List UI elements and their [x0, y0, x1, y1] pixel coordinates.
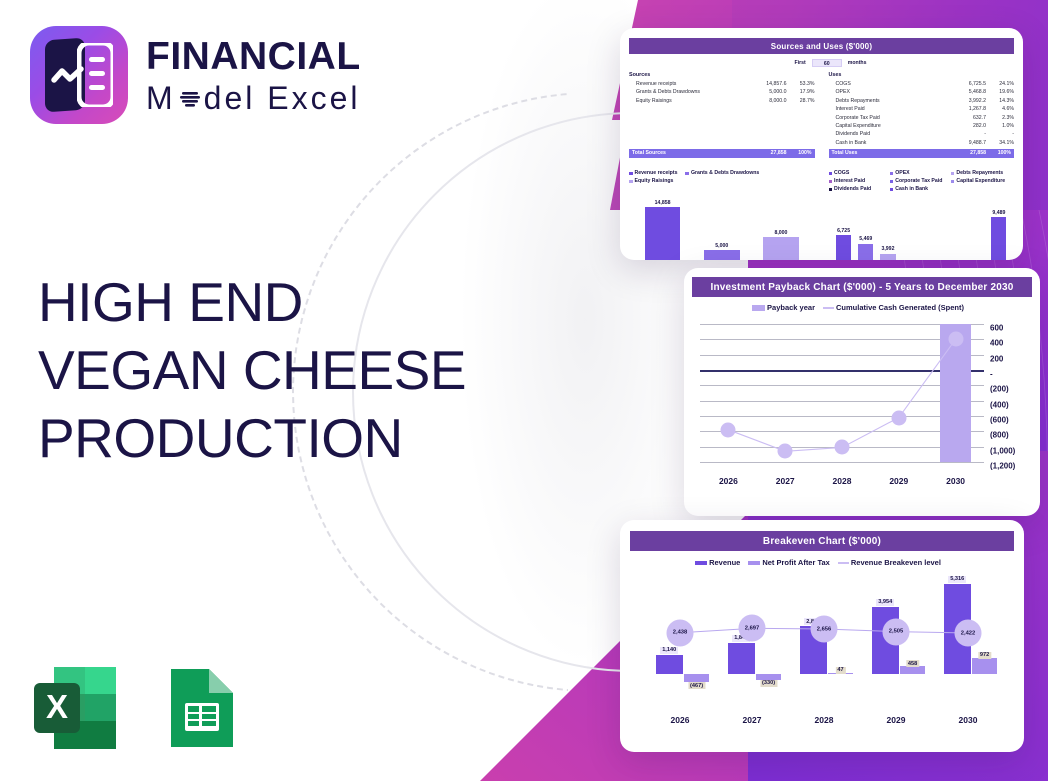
row-value: 282.0 [946, 122, 986, 130]
row-label: Cash in Bank [829, 139, 947, 147]
total-sources-row: Total Sources 27,858 100% [629, 149, 815, 158]
payback-x-tick: 2030 [927, 476, 984, 486]
payback-x-tick: 2028 [814, 476, 871, 486]
uses-table-row: Cash in Bank9,488.734.1% [829, 139, 1015, 147]
payback-y-tick: 600 [990, 324, 1003, 333]
breakeven-x-tick: 2029 [860, 715, 932, 725]
breakeven-data-point: 2,422 [955, 620, 982, 647]
sources-table-row: Equity Raisings8,000.028.7% [629, 97, 815, 105]
legend-label: Revenue receipts [635, 170, 678, 176]
payback-title: Investment Payback Chart ($'000) - 5 Yea… [692, 277, 1032, 297]
row-percent: 4.6% [986, 105, 1014, 113]
period-suffix-label: months [848, 60, 867, 66]
row-value: 5,000.0 [747, 88, 787, 96]
google-sheets-icon [157, 663, 247, 753]
brand-name-line2-suffix: del Excel [204, 82, 361, 114]
breakeven-data-point: 2,656 [811, 616, 838, 643]
payback-y-tick: - [990, 369, 993, 378]
legend-label: COGS [834, 170, 849, 176]
uses-bar: 282 [943, 194, 965, 260]
slide-canvas: FINANCIAL M del Excel HIGH END VEGAN CHE… [0, 0, 1048, 781]
financial-model-excel-logo-icon [30, 26, 128, 124]
breakeven-x-tick: 2030 [932, 715, 1004, 725]
row-percent: 28.7% [787, 97, 815, 105]
row-label: Capital Expenditure [829, 122, 947, 130]
uses-table-row: Corporate Tax Paid632.72.3% [829, 114, 1015, 122]
legend-label: Cash in Bank [895, 186, 928, 192]
sources-and-uses-card[interactable]: Sources and Uses ($'000) First 60 months… [620, 28, 1023, 260]
bar-value-label: 9,489 [992, 210, 1005, 216]
uses-table-row: Debts Repayments3,992.214.3% [829, 97, 1015, 105]
breakeven-title: Breakeven Chart ($'000) [630, 531, 1014, 551]
bar [645, 207, 681, 260]
row-label: Interest Paid [829, 105, 947, 113]
brand-name-line2-prefix: M [146, 82, 176, 114]
payback-y-tick: (200) [990, 385, 1009, 394]
microsoft-excel-icon: X [30, 663, 120, 753]
row-value: 5,468.8 [946, 88, 986, 96]
total-uses-row: Total Uses 27,858 100% [829, 149, 1015, 158]
payback-data-point [948, 332, 963, 347]
row-label: Corporate Tax Paid [829, 114, 947, 122]
payback-y-tick: (400) [990, 400, 1009, 409]
sources-legend-item: Revenue receipts [629, 170, 677, 176]
total-sources-value: 27,858 [747, 149, 787, 158]
sources-bar: 14,858 [633, 186, 692, 260]
bar [991, 217, 1006, 260]
uses-chart-legend: COGSOPEXDebts RepaymentsInterest PaidCor… [829, 170, 1015, 194]
payback-y-tick: 400 [990, 339, 1003, 348]
legend-swatch [695, 561, 707, 565]
stacked-bars-o-icon [177, 85, 203, 111]
row-percent: - [986, 130, 1014, 138]
breakeven-legend-item: Revenue [695, 558, 740, 567]
legend-label: Revenue [709, 558, 740, 567]
uses-table-row: COGS6,725.524.1% [829, 80, 1015, 88]
bar-value-label: 14,858 [655, 200, 671, 206]
headline-line-2: VEGAN CHEESE [38, 336, 518, 404]
svg-text:X: X [46, 688, 68, 725]
bar [880, 254, 895, 260]
sources-chart: Revenue receiptsGrants & Debts Drawdowns… [629, 163, 815, 260]
brand-wordmark: FINANCIAL M del Excel [146, 37, 361, 114]
payback-legend-item: Cumulative Cash Generated (Spent) [823, 303, 964, 312]
sources-bar: 5,000 [692, 186, 751, 260]
row-percent: 1.0% [986, 122, 1014, 130]
uses-column: Uses COGS6,725.524.1%OPEX5,468.819.6%Deb… [829, 72, 1015, 158]
legend-label: Revenue Breakeven level [851, 558, 941, 567]
breakeven-data-point: 2,438 [667, 619, 694, 646]
row-value: 1,267.8 [946, 105, 986, 113]
row-percent: 19.6% [986, 88, 1014, 96]
uses-legend-item: COGS [829, 170, 890, 176]
breakeven-chart: 1,140(467)1,848(330)2,814473,9544585,316… [630, 577, 1014, 727]
logo-list-panel-icon [77, 43, 113, 107]
row-label: Debts Repayments [829, 97, 947, 105]
payback-y-tick: (1,000) [990, 446, 1015, 455]
legend-label: Payback year [767, 303, 815, 312]
breakeven-x-tick: 2026 [644, 715, 716, 725]
legend-swatch [829, 180, 833, 184]
row-label: Revenue receipts [629, 80, 747, 88]
sources-table-row: Grants & Debts Drawdowns5,000.017.9% [629, 88, 815, 96]
compatible-apps: X [30, 663, 247, 753]
row-label: COGS [829, 80, 947, 88]
row-percent: 53.3% [787, 80, 815, 88]
row-label: Equity Raisings [629, 97, 747, 105]
payback-y-tick: (600) [990, 415, 1009, 424]
sources-legend-item: Grants & Debts Drawdowns [685, 170, 759, 176]
investment-payback-card[interactable]: Investment Payback Chart ($'000) - 5 Yea… [684, 268, 1040, 516]
breakeven-x-tick: 2028 [788, 715, 860, 725]
payback-x-axis: 20262027202820292030 [700, 476, 984, 486]
uses-legend-item: Capital Expenditure [951, 178, 1012, 184]
uses-bar: 633 [921, 194, 943, 260]
headline-line-3: PRODUCTION [38, 404, 518, 472]
legend-band-marker [752, 305, 765, 311]
uses-legend-item: Interest Paid [829, 178, 890, 184]
legend-swatch [951, 180, 955, 184]
breakeven-data-point: 2,505 [883, 618, 910, 645]
legend-label: Debts Repayments [956, 170, 1003, 176]
bar [763, 237, 799, 260]
brand-logo: FINANCIAL M del Excel [30, 26, 361, 124]
sources-bar: 8,000 [751, 186, 810, 260]
uses-legend-item: Dividends Paid [829, 186, 890, 192]
payback-x-tick: 2026 [700, 476, 757, 486]
breakeven-legend-item: Revenue Breakeven level [838, 558, 941, 567]
row-label: Grants & Debts Drawdowns [629, 88, 747, 96]
payback-y-tick: (800) [990, 431, 1009, 440]
legend-swatch [890, 188, 894, 192]
breakeven-x-axis: 20262027202820292030 [644, 715, 1004, 725]
total-uses-label: Total Uses [829, 149, 947, 158]
bar-value-label: 6,725 [837, 228, 850, 234]
total-uses-pct: 100% [986, 149, 1014, 158]
legend-swatch [629, 180, 633, 184]
total-uses-value: 27,858 [946, 149, 986, 158]
row-label: OPEX [829, 88, 947, 96]
period-prefix-label: First [795, 60, 806, 66]
uses-bar: 6,725 [833, 194, 855, 260]
legend-label: Corporate Tax Paid [895, 178, 942, 184]
row-percent: 14.3% [986, 97, 1014, 105]
payback-x-tick: 2029 [870, 476, 927, 486]
legend-label: Dividends Paid [834, 186, 871, 192]
breakeven-data-point: 2,697 [739, 615, 766, 642]
row-value: 3,992.2 [946, 97, 986, 105]
breakeven-x-tick: 2027 [716, 715, 788, 725]
legend-label: Cumulative Cash Generated (Spent) [836, 303, 964, 312]
payback-data-point [778, 444, 793, 459]
payback-data-point [835, 440, 850, 455]
uses-bar: 1,268 [899, 194, 921, 260]
sources-uses-title: Sources and Uses ($'000) [629, 38, 1014, 54]
period-selector[interactable]: First 60 months [647, 59, 1014, 67]
row-value: 14,857.6 [747, 80, 787, 88]
sources-bar-chart: 14,8585,0008,000 [629, 186, 815, 260]
uses-legend-item: OPEX [890, 170, 951, 176]
breakeven-legend-item: Net Profit After Tax [748, 558, 830, 567]
row-value: 6,725.5 [946, 80, 986, 88]
payback-data-point [721, 422, 736, 437]
legend-line-marker [823, 307, 834, 309]
legend-swatch [685, 172, 689, 176]
uses-bar: 3,992 [877, 194, 899, 260]
uses-table-row: Capital Expenditure282.01.0% [829, 122, 1015, 130]
row-value: 9,488.7 [946, 139, 986, 147]
payback-y-axis: 600400200-(200)(400)(600)(1,000)(1,200)(… [984, 324, 1028, 462]
uses-chart: COGSOPEXDebts RepaymentsInterest PaidCor… [829, 163, 1015, 260]
bar [704, 250, 740, 260]
legend-swatch [829, 172, 833, 176]
payback-x-tick: 2027 [757, 476, 814, 486]
uses-bar-chart: 6,7255,4693,9921,26863328209,489 [829, 194, 1015, 260]
row-value: - [946, 130, 986, 138]
legend-label: Net Profit After Tax [762, 558, 830, 567]
sources-column: Sources Revenue receipts14,857.653.3%Gra… [629, 72, 815, 158]
row-percent: 2.3% [986, 114, 1014, 122]
row-value: 632.7 [946, 114, 986, 122]
legend-swatch [829, 188, 833, 192]
row-percent: 34.1% [986, 139, 1014, 147]
legend-label: Interest Paid [834, 178, 865, 184]
uses-table-row: Interest Paid1,267.84.6% [829, 105, 1015, 113]
uses-bar: 0 [966, 194, 988, 260]
payback-y-tick: 200 [990, 354, 1003, 363]
legend-label: Capital Expenditure [956, 178, 1005, 184]
uses-table-row: Dividends Paid-- [829, 130, 1015, 138]
row-value: 8,000.0 [747, 97, 787, 105]
uses-bar: 5,469 [855, 194, 877, 260]
legend-label: Grants & Debts Drawdowns [691, 170, 759, 176]
payback-data-point [891, 410, 906, 425]
sources-chart-legend: Revenue receiptsGrants & Debts Drawdowns… [629, 170, 815, 186]
legend-swatch [748, 561, 760, 565]
uses-bar: 9,489 [988, 194, 1010, 260]
row-percent: 17.9% [787, 88, 815, 96]
sources-heading: Sources [629, 72, 815, 78]
period-months-input[interactable]: 60 [812, 59, 842, 67]
payback-y-tick: (1,200) [990, 462, 1015, 471]
payback-chart: 600400200-(200)(400)(600)(1,000)(1,200)(… [692, 320, 1032, 490]
total-sources-label: Total Sources [629, 149, 747, 158]
uses-heading: Uses [829, 72, 1015, 78]
breakeven-card[interactable]: Breakeven Chart ($'000) RevenueNet Profi… [620, 520, 1024, 752]
uses-legend-item: Cash in Bank [890, 186, 951, 192]
breakeven-chart-legend: RevenueNet Profit After TaxRevenue Break… [630, 558, 1014, 569]
headline-line-1: HIGH END [38, 268, 518, 336]
brand-name-line2: M del Excel [146, 82, 361, 114]
bar-value-label: 8,000 [774, 230, 787, 236]
bar [836, 235, 851, 260]
row-percent: 24.1% [986, 80, 1014, 88]
legend-label: Equity Raisings [635, 178, 674, 184]
bar [858, 244, 873, 260]
legend-swatch [890, 180, 894, 184]
payback-legend-item: Payback year [752, 303, 815, 312]
brand-name-line1: FINANCIAL [146, 37, 361, 76]
page-title: HIGH END VEGAN CHEESE PRODUCTION [38, 268, 518, 472]
legend-swatch [951, 172, 955, 176]
legend-line-marker [838, 562, 849, 564]
bar-value-label: 5,000 [715, 243, 728, 249]
bar-value-label: 3,992 [881, 246, 894, 252]
bar-value-label: 5,469 [859, 236, 872, 242]
row-label: Dividends Paid [829, 130, 947, 138]
legend-swatch [629, 172, 633, 176]
payback-gridline [700, 462, 984, 463]
payback-chart-legend: Payback yearCumulative Cash Generated (S… [692, 303, 1032, 314]
sources-legend-item: Equity Raisings [629, 178, 673, 184]
total-sources-pct: 100% [787, 149, 815, 158]
uses-table-row: OPEX5,468.819.6% [829, 88, 1015, 96]
legend-label: OPEX [895, 170, 909, 176]
sources-table-row: Revenue receipts14,857.653.3% [629, 80, 815, 88]
legend-swatch [890, 172, 894, 176]
uses-legend-item: Debts Repayments [951, 170, 1012, 176]
uses-legend-item: Corporate Tax Paid [890, 178, 951, 184]
